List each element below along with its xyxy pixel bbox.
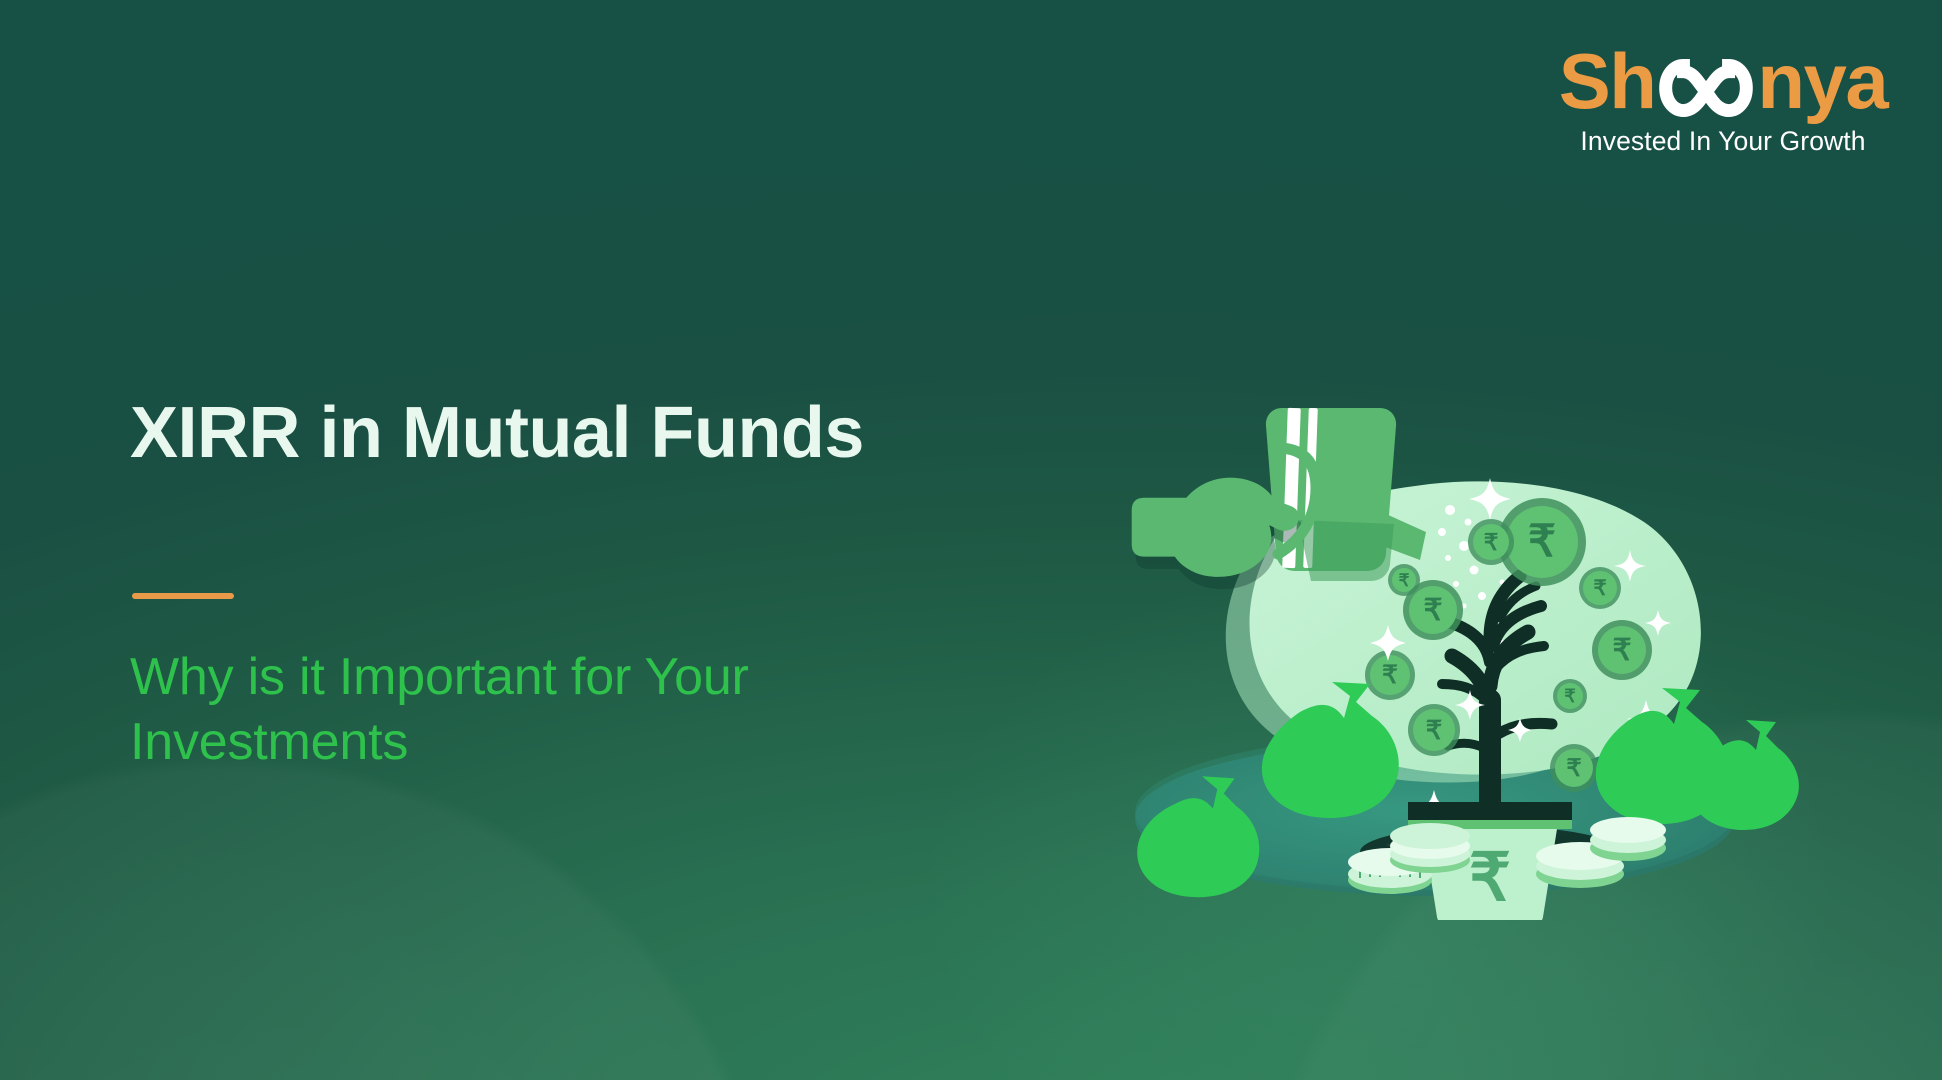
page-title: XIRR in Mutual Funds: [130, 396, 1010, 471]
svg-text:₹: ₹: [1566, 756, 1581, 782]
money-tree-illustration: ₹ ₹ ₹ ₹: [1050, 400, 1810, 920]
svg-text:₹: ₹: [1423, 594, 1442, 627]
accent-rule: [132, 593, 234, 599]
banner-root: Sh nya Invested In Your Growth XIRR in M…: [0, 0, 1942, 1080]
brand-wordmark: Sh nya: [1558, 40, 1888, 122]
infinity-icon: [1658, 57, 1754, 119]
svg-text:₹: ₹: [1382, 662, 1398, 689]
rupee-coin-icon: ₹: [1388, 564, 1420, 596]
brand-logo[interactable]: Sh nya Invested In Your Growth: [1558, 40, 1888, 157]
rupee-coin-icon: ₹: [1579, 567, 1621, 609]
brand-wordmark-post: nya: [1757, 42, 1887, 120]
brand-wordmark-pre: Sh: [1559, 42, 1656, 120]
rupee-coin-icon: ₹: [1592, 620, 1652, 680]
illustration-svg: ₹ ₹ ₹ ₹: [1050, 400, 1810, 920]
svg-text:₹: ₹: [1399, 571, 1410, 590]
hero-copy: XIRR in Mutual Funds Why is it Important…: [130, 396, 1010, 776]
svg-text:₹: ₹: [1564, 686, 1576, 706]
rupee-coin-icon: ₹: [1408, 704, 1460, 756]
rupee-coin-icon: ₹: [1365, 650, 1415, 700]
page-subtitle: Why is it Important for Your Investments: [130, 645, 770, 776]
rupee-coin-icon: ₹: [1553, 679, 1587, 713]
rupee-coin-icon: ₹: [1550, 744, 1598, 792]
svg-text:₹: ₹: [1426, 716, 1443, 745]
svg-text:₹: ₹: [1593, 576, 1606, 600]
pot-rupee-symbol: ₹: [1469, 842, 1511, 915]
rupee-coin-icon: ₹: [1468, 519, 1514, 565]
svg-text:₹: ₹: [1484, 530, 1499, 555]
svg-text:₹: ₹: [1528, 517, 1556, 566]
svg-text:₹: ₹: [1612, 634, 1631, 667]
brand-tagline: Invested In Your Growth: [1558, 126, 1888, 157]
